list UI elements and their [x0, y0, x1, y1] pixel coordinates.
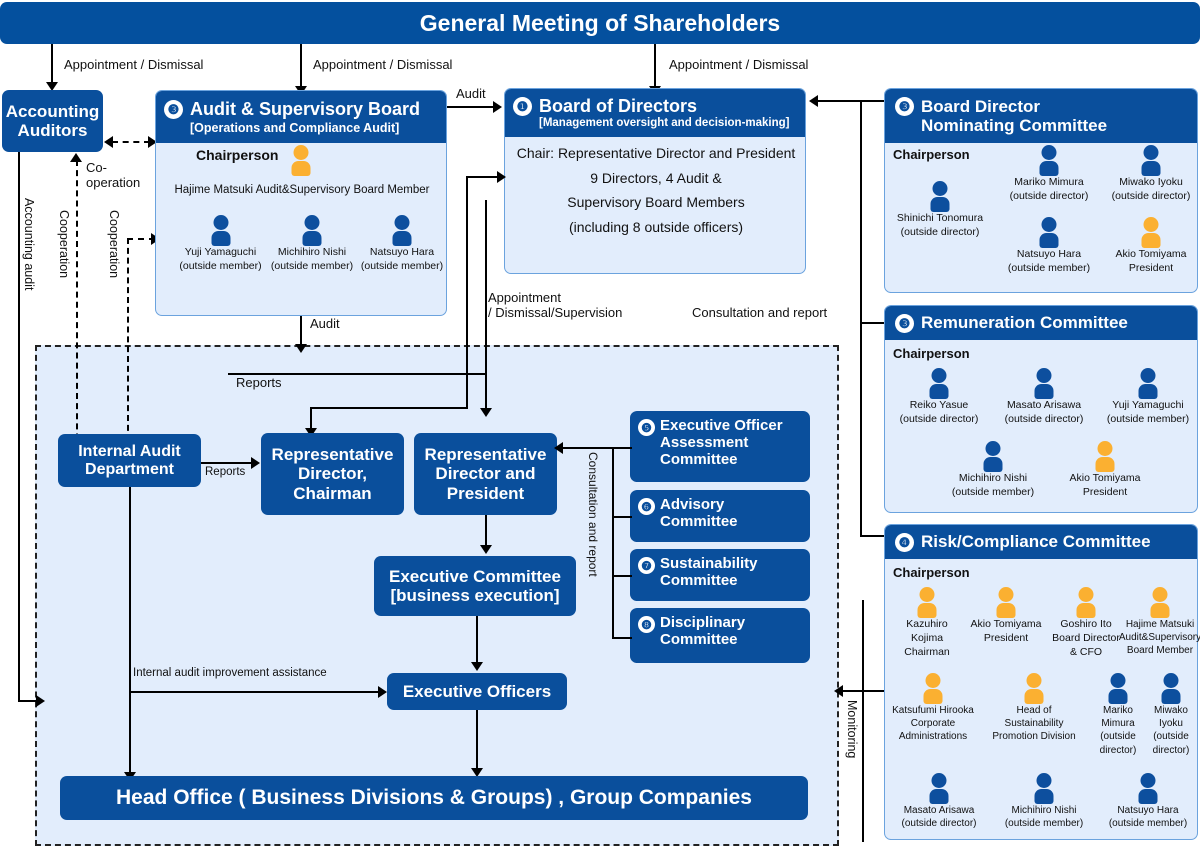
risk-member-5-line2: Sustainability [1005, 718, 1064, 729]
risk-member-3-line3: Board Member [1127, 645, 1193, 656]
risk-member-2-name: Goshiro Ito [1060, 619, 1111, 631]
person-blue-icon [926, 773, 952, 803]
person-blue-icon [389, 215, 415, 245]
line-nominating-to-bod [818, 100, 886, 102]
nominating-member-3-role: (outside member) [1008, 263, 1090, 275]
nominating-member-2-role: (outside director) [1112, 191, 1191, 203]
line-asb-audit-to-bod [447, 106, 497, 108]
asb-member-1-name: Michihiro Nishi [278, 247, 346, 259]
side-committee-1-label: Advisory Committee [660, 497, 738, 531]
general-meeting-banner: General Meeting of Shareholders [0, 2, 1200, 44]
risk-number-badge: ❹ [895, 533, 914, 552]
remuneration-chairperson-label: Chairperson [893, 346, 970, 361]
person-orange-icon [1021, 673, 1047, 703]
line-committee-1-bus [612, 516, 632, 518]
line-iad-to-exec-officers [129, 691, 379, 693]
side-committee-1[interactable]: ❻ Advisory Committee [630, 490, 810, 542]
label-cooperation-a: Cooperation [57, 210, 71, 278]
arrowhead-bod-appoint [497, 171, 506, 183]
person-orange-icon [1092, 441, 1118, 471]
person-orange-icon [993, 587, 1019, 617]
rep-director-chairman-label: Representative Director, Chairman [272, 445, 394, 502]
person-orange-icon [288, 145, 314, 175]
risk-header: ❹ Risk/Compliance Committee [885, 525, 1197, 559]
asb-member-2-role: (outside member) [361, 261, 443, 273]
risk-member-0: Kazuhiro Kojima Chairman [887, 587, 967, 658]
asb-member-1-role: (outside member) [271, 261, 353, 273]
remuneration-member-1: Masato Arisawa (outside director) [991, 368, 1097, 426]
side-committee-0-label: Executive Officer Assessment Committee [660, 418, 783, 468]
nominating-member-0: Shinichi Tonomura (outside director) [885, 181, 995, 239]
nominating-member-2: Miwako Iyoku (outside director) [1103, 145, 1199, 203]
nominating-number-badge: ❸ [895, 97, 914, 116]
side-committee-0[interactable]: ❺ Executive Officer Assessment Committee [630, 411, 810, 482]
asb-header: ❸ Audit & Supervisory Board [Operations … [156, 91, 446, 143]
risk-member-0-line2: Kojima [911, 633, 943, 645]
remuneration-member-4-name: Akio Tomiyama [1070, 473, 1141, 485]
executive-committee-line2: [business execution] [390, 586, 559, 605]
risk-member-10: Natsuyo Hara (outside member) [1097, 773, 1199, 829]
risk-member-7: Miwako Iyoku (outside director) [1143, 673, 1199, 756]
line-committees-bus [612, 447, 614, 637]
label-co-operation: Co- operation [86, 160, 140, 191]
person-orange-icon [914, 587, 940, 617]
dashed-cooperation-line [76, 160, 78, 480]
asb-member-0: Yuji Yamaguchi (outside member) [178, 215, 263, 273]
head-office-label: Head Office ( Business Divisions & Group… [116, 786, 752, 810]
risk-member-3-name: Hajime Matsuki [1126, 619, 1194, 630]
risk-member-9: Michihiro Nishi (outside member) [991, 773, 1097, 829]
nominating-member-1-name: Mariko Mimura [1014, 177, 1083, 189]
audit-supervisory-board-panel: ❸ Audit & Supervisory Board [Operations … [155, 90, 447, 316]
person-blue-icon [980, 441, 1006, 471]
side-committee-0-badge: ❺ [638, 419, 655, 436]
nominating-member-0-name: Shinichi Tonomura [897, 213, 983, 225]
rep-director-president-box[interactable]: Representative Director and President [414, 433, 557, 515]
asb-subtitle: [Operations and Compliance Audit] [164, 121, 399, 135]
person-blue-icon [927, 181, 953, 211]
executive-committee-box[interactable]: Executive Committee [business execution] [374, 556, 576, 616]
governance-diagram: General Meeting of Shareholders Appointm… [0, 0, 1200, 842]
accounting-auditors-label: Accounting Auditors [6, 102, 100, 140]
arrowhead-nominating-to-bod [809, 95, 818, 107]
asb-chair-member [288, 145, 314, 175]
head-office-box[interactable]: Head Office ( Business Divisions & Group… [60, 776, 808, 820]
arrowhead-asb-audit [493, 101, 502, 113]
asb-chairperson-label: Chairperson [196, 147, 278, 163]
risk-member-8-line2: (outside director) [901, 818, 976, 829]
line-accounting-audit [18, 152, 20, 702]
label-reports-mid: Reports [205, 466, 245, 480]
person-blue-icon [208, 215, 234, 245]
risk-member-6-line3: (outside [1100, 731, 1136, 742]
bod-line2: 9 Directors, 4 Audit & [505, 166, 807, 191]
person-blue-icon [299, 215, 325, 245]
asb-chair-name: Hajime Matsuki Audit&Supervisory Board M… [156, 184, 448, 196]
remuneration-member-4: Akio Tomiyama President [1053, 441, 1157, 499]
asb-member-1: Michihiro Nishi (outside member) [266, 215, 358, 273]
nominating-member-4-name: Akio Tomiyama [1116, 249, 1187, 261]
line-exec-committee-to-officers [476, 616, 478, 666]
executive-officers-box[interactable]: Executive Officers [387, 673, 567, 710]
nominating-member-1: Mariko Mimura (outside director) [997, 145, 1101, 203]
person-blue-icon [1135, 368, 1161, 398]
line-reports-down-president [485, 373, 487, 411]
risk-member-1-name: Akio Tomiyama [971, 619, 1042, 631]
person-blue-icon [926, 368, 952, 398]
person-orange-icon [920, 673, 946, 703]
bod-title: Board of Directors [539, 96, 697, 116]
nominating-member-4: Akio Tomiyama President [1103, 217, 1199, 275]
risk-member-7-name: Miwako [1154, 705, 1188, 716]
risk-member-5-line3: Promotion Division [992, 731, 1075, 742]
arrowhead-cooperation-left [104, 136, 113, 148]
line-bod-consult-to-remuneration [860, 322, 886, 324]
line-bod-consultation-bus [860, 100, 862, 535]
label-appointment-dismissal-1: Appointment / Dismissal [64, 57, 203, 72]
nominating-header: ❸ Board Director Nominating Committee [885, 89, 1197, 143]
arrow-line-shareholders-to-auditors [51, 44, 53, 84]
risk-member-4-line3: Administrations [899, 731, 967, 742]
remuneration-member-0: Reiko Yasue (outside director) [887, 368, 991, 426]
risk-member-2-line2: Board Director [1052, 633, 1120, 645]
remuneration-number-badge: ❸ [895, 314, 914, 333]
general-meeting-title: General Meeting of Shareholders [420, 10, 780, 37]
label-appointment-dismissal-2: Appointment / Dismissal [313, 57, 452, 72]
nominating-member-3-name: Natsuyo Hara [1017, 249, 1081, 261]
arrowhead-monitoring [834, 685, 843, 697]
risk-member-1-line2: President [984, 633, 1028, 645]
line-committee-2-bus [612, 575, 632, 577]
nominating-member-3: Natsuyo Hara (outside member) [997, 217, 1101, 275]
bod-line4: (including 8 outside officers) [505, 215, 807, 240]
internal-audit-department-label: Internal Audit Department [78, 443, 181, 479]
bod-body: Chair: Representative Director and Presi… [505, 141, 807, 239]
risk-member-6: Mariko Mimura (outside director) [1089, 673, 1147, 756]
remuneration-member-3-role: (outside member) [952, 487, 1034, 499]
arrow-line-shareholders-to-asb [300, 44, 302, 88]
side-committee-2-line2: Committee [660, 572, 738, 589]
line-reports-up [485, 200, 487, 373]
bod-subtitle: [Management oversight and decision-makin… [513, 117, 789, 130]
label-appointment-dismissal-3: Appointment / Dismissal [669, 57, 808, 72]
person-blue-icon [1031, 773, 1057, 803]
accounting-auditors-box[interactable]: Accounting Auditors [2, 90, 103, 152]
line-iad-reports [201, 462, 255, 464]
risk-member-8-name: Masato Arisawa [904, 805, 975, 816]
person-blue-icon [1036, 217, 1062, 247]
label-cooperation-b: Cooperation [107, 210, 121, 278]
label-consultation-report-vertical: Consultation and report [586, 452, 600, 577]
line-committee-3-bus [612, 637, 632, 639]
arrowhead-asb-audit-down [295, 344, 307, 353]
risk-member-7-line4: director) [1153, 745, 1190, 756]
risk-member-0-name: Kazuhiro [906, 619, 947, 631]
bod-line1: Chair: Representative Director and Presi… [505, 141, 807, 166]
executive-committee-line1: Executive Committee [389, 567, 561, 586]
side-committee-3[interactable]: ❽ Disciplinary Committee [630, 608, 810, 663]
remuneration-title: Remuneration Committee [921, 313, 1128, 332]
nominating-member-4-role: President [1129, 263, 1173, 275]
internal-audit-department-box[interactable]: Internal Audit Department [58, 434, 201, 487]
arrowhead-accounting-audit [36, 695, 45, 707]
line-bod-appoint-to-rep [310, 407, 468, 409]
risk-member-6-name: Mariko [1103, 705, 1133, 716]
remuneration-member-1-name: Masato Arisawa [1007, 400, 1081, 412]
risk-member-4: Katsufumi Hirooka Corporate Administrati… [885, 673, 981, 743]
arrowhead-committees-to-president [554, 442, 563, 454]
nominating-committee-panel: ❸ Board Director Nominating Committee Ch… [884, 88, 1198, 293]
person-blue-icon [1135, 773, 1161, 803]
side-committee-2[interactable]: ❼ Sustainability Committee [630, 549, 810, 601]
label-internal-audit-assistance: Internal audit improvement assistance [133, 667, 327, 681]
arrowhead-reports-president [480, 408, 492, 417]
risk-member-5: Head of Sustainability Promotion Divisio… [982, 673, 1086, 743]
side-committee-1-badge: ❻ [638, 498, 655, 515]
executive-officers-label: Executive Officers [403, 682, 551, 701]
risk-member-2-line3: & CFO [1070, 647, 1102, 659]
asb-number-badge: ❸ [164, 100, 183, 119]
risk-member-4-line2: Corporate [911, 718, 955, 729]
risk-member-1: Akio Tomiyama President [965, 587, 1047, 645]
remuneration-committee-panel: ❸ Remuneration Committee Chairperson Rei… [884, 305, 1198, 513]
arrow-line-shareholders-to-bod [654, 44, 656, 88]
person-blue-icon [1036, 145, 1062, 175]
remuneration-header: ❸ Remuneration Committee [885, 306, 1197, 340]
person-blue-icon [1105, 673, 1131, 703]
line-monitoring-vertical [862, 600, 864, 842]
dashed-cooperation-auditors-asb [112, 141, 150, 143]
asb-member-0-name: Yuji Yamaguchi [185, 247, 256, 259]
arrowhead-iad-to-exec-officers [378, 686, 387, 698]
remuneration-member-4-role: President [1083, 487, 1127, 499]
person-blue-icon [1138, 145, 1164, 175]
risk-member-10-line2: (outside member) [1109, 818, 1187, 829]
nominating-title-line1: Board Director [921, 97, 1040, 116]
rep-director-president-label: Representative Director and President [425, 445, 547, 502]
line-bod-consult-to-risk [860, 535, 886, 537]
risk-member-0-line3: Chairman [904, 647, 950, 659]
risk-member-8: Masato Arisawa (outside director) [887, 773, 991, 829]
arrowhead-iad-reports [251, 457, 260, 469]
arrowhead-cooperation-up [70, 153, 82, 162]
risk-member-7-line2: Iyoku [1159, 718, 1183, 729]
remuneration-member-1-role: (outside director) [1005, 414, 1084, 426]
rep-director-chairman-box[interactable]: Representative Director, Chairman [261, 433, 404, 515]
nominating-member-2-name: Miwako Iyoku [1119, 177, 1183, 189]
remuneration-member-3-name: Michihiro Nishi [959, 473, 1027, 485]
remuneration-member-2-role: (outside member) [1107, 414, 1189, 426]
label-audit-top: Audit [456, 86, 486, 101]
side-committee-2-label: Sustainability Committee [660, 556, 758, 590]
nominating-member-0-role: (outside director) [901, 227, 980, 239]
arrowhead-president-to-exec-committee [480, 545, 492, 554]
person-orange-icon [1147, 587, 1173, 617]
side-committee-0-line2: Assessment [660, 434, 748, 451]
line-monitoring-horizontal [862, 690, 884, 692]
risk-member-10-name: Natsuyo Hara [1117, 805, 1178, 816]
line-monitoring-to-enclosure [843, 690, 863, 692]
label-audit-down: Audit [310, 316, 340, 331]
side-committee-3-label: Disciplinary Committee [660, 615, 745, 649]
nominating-chairperson-label: Chairperson [893, 147, 970, 162]
label-monitoring: Monitoring [845, 700, 859, 758]
risk-member-2: Goshiro Ito Board Director & CFO [1045, 587, 1127, 658]
risk-member-5-name: Head of [1016, 705, 1051, 716]
risk-title: Risk/Compliance Committee [921, 532, 1151, 551]
risk-member-7-line3: (outside [1153, 731, 1189, 742]
risk-member-6-line2: Mimura [1101, 718, 1134, 729]
risk-chairperson-label: Chairperson [893, 565, 970, 580]
risk-member-6-line4: director) [1100, 745, 1137, 756]
person-blue-icon [1158, 673, 1184, 703]
nominating-member-1-role: (outside director) [1010, 191, 1089, 203]
arrowhead-exec-committee-to-officers [471, 662, 483, 671]
person-orange-icon [1073, 587, 1099, 617]
side-committee-2-badge: ❼ [638, 557, 655, 574]
remuneration-member-2-name: Yuji Yamaguchi [1112, 400, 1183, 412]
person-blue-icon [1031, 368, 1057, 398]
side-committee-2-line1: Sustainability [660, 555, 758, 572]
line-officers-to-headoffice [476, 710, 478, 772]
asb-member-2-name: Natsuyo Hara [370, 247, 434, 259]
risk-member-9-line2: (outside member) [1005, 818, 1083, 829]
label-accounting-audit: Accounting audit [22, 198, 36, 290]
risk-compliance-committee-panel: ❹ Risk/Compliance Committee Chairperson … [884, 524, 1198, 840]
line-committee-0-bus [562, 447, 632, 449]
side-committee-1-line2: Committee [660, 513, 738, 530]
board-of-directors-panel: ❶ Board of Directors [Management oversig… [504, 88, 806, 274]
asb-member-2: Natsuyo Hara (outside member) [359, 215, 445, 273]
bod-header: ❶ Board of Directors [Management oversig… [505, 89, 805, 137]
remuneration-member-0-name: Reiko Yasue [910, 400, 969, 412]
person-orange-icon [1138, 217, 1164, 247]
side-committee-1-line1: Advisory [660, 496, 724, 513]
remuneration-member-3: Michihiro Nishi (outside member) [941, 441, 1045, 499]
risk-member-3: Hajime Matsuki Audit&Supervisory Board M… [1121, 587, 1199, 657]
side-committee-0-line3: Committee [660, 451, 738, 468]
remuneration-member-0-role: (outside director) [900, 414, 979, 426]
risk-member-4-name: Katsufumi Hirooka [892, 705, 974, 716]
asb-member-0-role: (outside member) [179, 261, 261, 273]
bod-line3: Supervisory Board Members [505, 190, 807, 215]
bod-number-badge: ❶ [513, 97, 532, 116]
side-committee-3-line2: Committee [660, 631, 738, 648]
label-consultation-report-top: Consultation and report [692, 305, 827, 320]
line-iad-down [129, 487, 131, 778]
risk-member-9-name: Michihiro Nishi [1011, 805, 1076, 816]
side-committee-3-line1: Disciplinary [660, 614, 745, 631]
nominating-title-line2: Nominating Committee [895, 116, 1107, 135]
side-committee-3-badge: ❽ [638, 616, 655, 633]
asb-title: Audit & Supervisory Board [190, 99, 420, 119]
label-appointment-supervision: Appointment / Dismissal/Supervision [488, 290, 622, 321]
label-reports-top: Reports [236, 375, 282, 390]
remuneration-member-2: Yuji Yamaguchi (outside member) [1097, 368, 1199, 426]
side-committee-0-line1: Executive Officer [660, 417, 783, 434]
risk-member-3-line2: Audit&Supervisory [1119, 632, 1200, 643]
